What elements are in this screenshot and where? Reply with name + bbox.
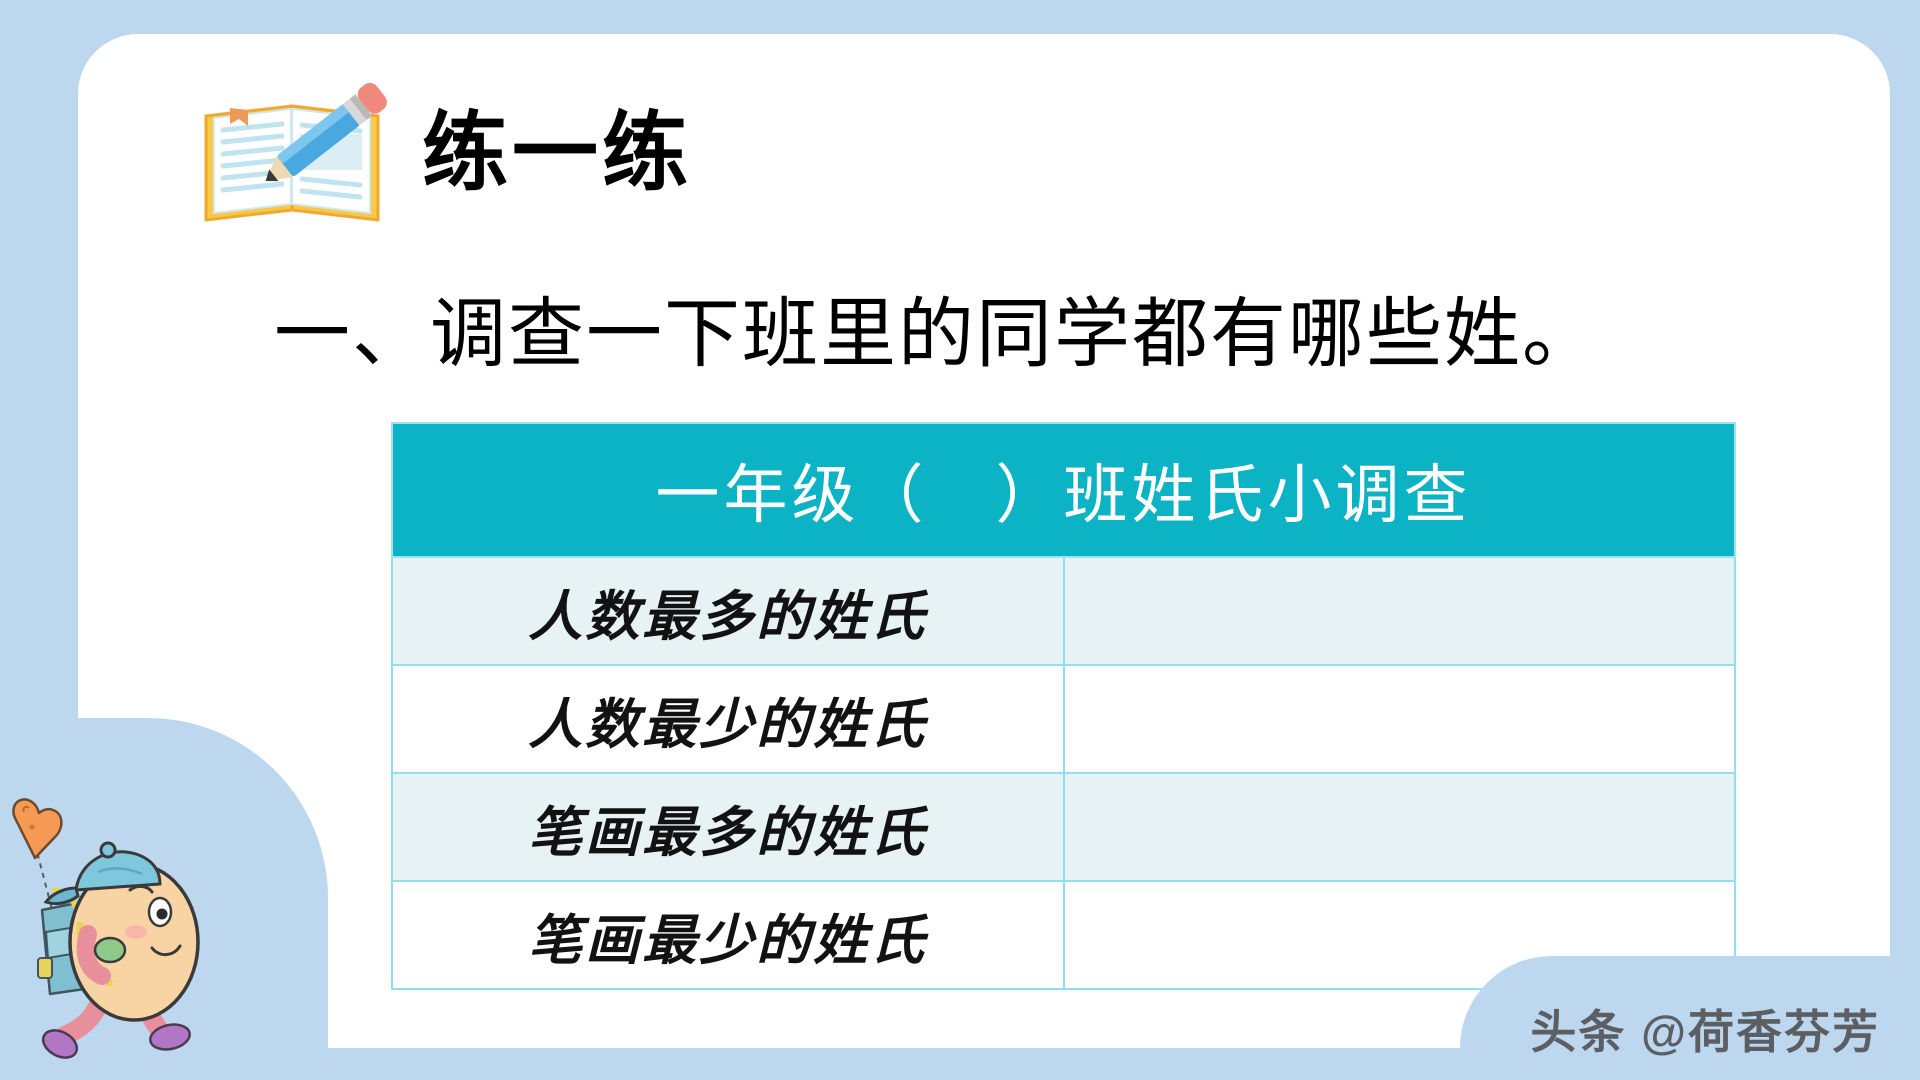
open-book-with-pencil-icon (196, 78, 396, 228)
table-header-row: 一年级（ ）班姓氏小调查 (392, 423, 1735, 557)
table-row: 人数最多的姓氏 (392, 557, 1735, 665)
slide-canvas: 练一练 一、调查一下班里的同学都有哪些姓。 一年级（ ）班姓氏小调查 人数最多的… (0, 0, 1920, 1080)
row-label-most-strokes: 笔画最多的姓氏 (392, 773, 1064, 881)
question-prompt: 一、调查一下班里的同学都有哪些姓。 (274, 272, 1600, 382)
watermark-text: 头条 @荷香芬芳 (1530, 996, 1880, 1062)
row-value-fewest-people[interactable] (1064, 665, 1736, 773)
page-title: 练一练 (422, 110, 692, 196)
row-label-fewest-strokes: 笔画最少的姓氏 (392, 881, 1064, 989)
row-label-most-people: 人数最多的姓氏 (392, 557, 1064, 665)
table-caption: 一年级（ ）班姓氏小调查 (392, 423, 1735, 557)
table-row: 人数最少的姓氏 (392, 665, 1735, 773)
row-label-fewest-people: 人数最少的姓氏 (392, 665, 1064, 773)
content-card: 练一练 一、调查一下班里的同学都有哪些姓。 一年级（ ）班姓氏小调查 人数最多的… (78, 34, 1890, 1048)
row-value-most-people[interactable] (1064, 557, 1736, 665)
surname-survey-table: 一年级（ ）班姓氏小调查 人数最多的姓氏 人数最少的姓氏 笔画最多的姓氏 笔画最… (391, 422, 1736, 990)
row-value-most-strokes[interactable] (1064, 773, 1736, 881)
egg-kid-mascot-icon (2, 772, 217, 1072)
slide-header: 练一练 (196, 78, 692, 228)
table-row: 笔画最多的姓氏 (392, 773, 1735, 881)
